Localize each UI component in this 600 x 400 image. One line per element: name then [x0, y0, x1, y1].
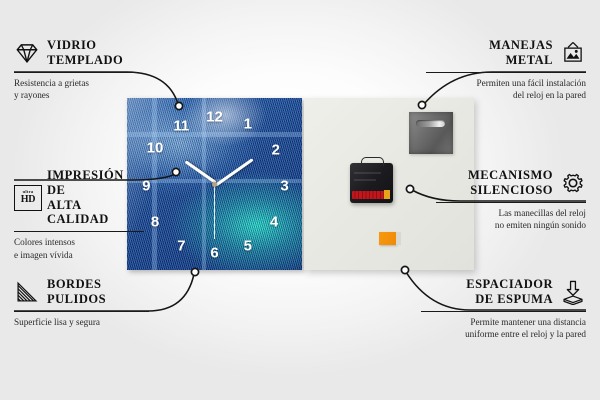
mechanism-ridge: [354, 172, 381, 174]
mechanism-hook: [361, 157, 384, 166]
callout-rule: [426, 72, 586, 73]
callout-title: ESPACIADOR DE ESPUMA: [466, 277, 553, 307]
clock-numeral-7: 7: [177, 238, 185, 253]
clock-numeral-12: 12: [206, 109, 223, 124]
callout-desc: Superficie lisa y segura: [14, 316, 149, 328]
callout-rule: [436, 202, 586, 203]
callout-rule: [421, 311, 586, 312]
clock-mechanism: [350, 163, 393, 203]
polished-edges-icon: [14, 279, 40, 305]
clock-front-panel: 12 1 2 3 4 5 6 7 8 9 10 11: [127, 98, 302, 270]
mechanism-ridge: [354, 179, 376, 181]
callout-vidrio-templado: VIDRIO TEMPLADO Resistencia a grietas y …: [14, 38, 139, 101]
callout-desc: Permite mantener una distancia uniforme …: [421, 316, 586, 340]
callout-rule: [14, 311, 149, 312]
foam-spacer-edge: [396, 232, 401, 245]
callout-title: MECANISMO SILENCIOSO: [468, 168, 553, 198]
callout-title: BORDES PULIDOS: [47, 277, 106, 307]
clock-numeral-10: 10: [147, 140, 164, 155]
callout-manejas-metal: MANEJAS METAL Permiten una fácil instala…: [426, 38, 586, 101]
ultra-hd-icon: ultra HD: [14, 185, 40, 211]
metal-hanger-plate: [409, 112, 453, 154]
clock-numeral-8: 8: [151, 214, 159, 229]
callout-desc: Las manecillas del reloj no emiten ningú…: [436, 207, 586, 231]
callout-espaciador-de-espuma: ESPACIADOR DE ESPUMA Permite mantener un…: [421, 277, 586, 340]
gear-icon: [560, 170, 586, 196]
callout-desc: Permiten una fácil instalación del reloj…: [426, 77, 586, 101]
callout-rule: [14, 72, 139, 73]
clock-numeral-6: 6: [210, 245, 218, 260]
clock-numeral-2: 2: [272, 142, 280, 157]
hanger-slot: [416, 120, 445, 127]
battery-terminal: [384, 190, 390, 199]
callout-mecanismo-silencioso: MECANISMO SILENCIOSO Las manecillas del …: [436, 168, 586, 231]
callout-title: IMPRESIÓN DE ALTA CALIDAD: [47, 168, 144, 227]
clock-numeral-3: 3: [280, 178, 288, 193]
ultra-hd-label-big: HD: [21, 195, 36, 205]
clock-numeral-5: 5: [244, 238, 252, 253]
callout-desc: Colores intensos e imagen vívida: [14, 236, 144, 260]
clock-numeral-4: 4: [270, 214, 278, 229]
clock-second-hand: [213, 184, 214, 239]
diamond-icon: [14, 40, 40, 66]
callout-title: MANEJAS METAL: [489, 38, 553, 68]
callout-title: VIDRIO TEMPLADO: [47, 38, 123, 68]
callout-desc: Resistencia a grietas y rayones: [14, 77, 139, 101]
callout-impresion-alta-calidad: ultra HD IMPRESIÓN DE ALTA CALIDAD Color…: [14, 168, 144, 261]
foam-spacer: [379, 232, 396, 245]
callout-bordes-pulidos: BORDES PULIDOS Superficie lisa y segura: [14, 277, 149, 328]
wall-frame-icon: [560, 40, 586, 66]
product-photo: 12 1 2 3 4 5 6 7 8 9 10 11: [127, 98, 474, 270]
foam-spacer-icon: [560, 279, 586, 305]
callout-rule: [14, 231, 144, 232]
clock-numeral-1: 1: [244, 116, 252, 131]
clock-numeral-11: 11: [173, 118, 189, 133]
clock-hand-pivot: [212, 182, 217, 187]
mechanism-battery: [352, 191, 386, 199]
infographic-canvas: 12 1 2 3 4 5 6 7 8 9 10 11: [0, 0, 600, 400]
